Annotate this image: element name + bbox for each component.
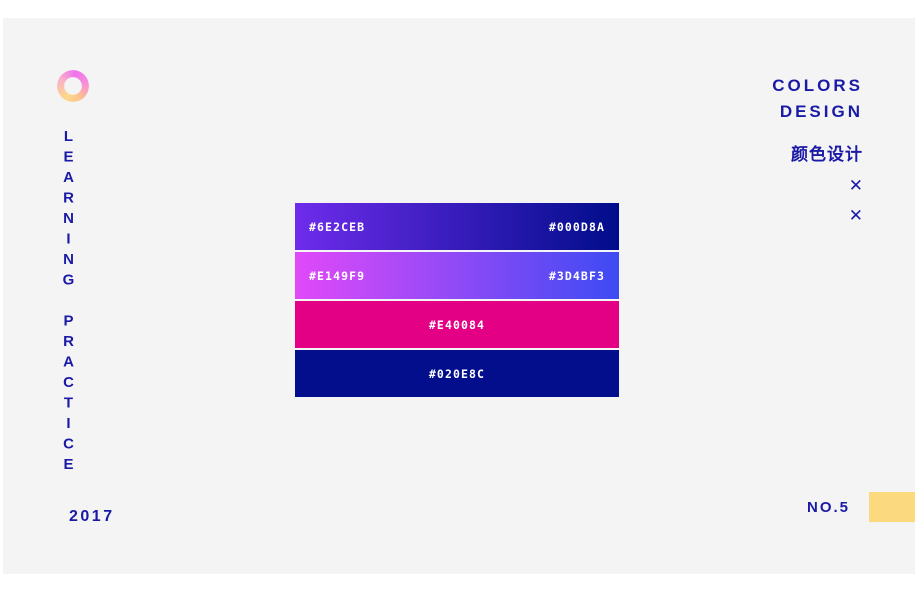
footer-right-group: NO.5 [807, 492, 915, 522]
color-swatch-row[interactable]: #E149F9 #3D4BF3 [295, 252, 619, 299]
swatch-label-center: #E40084 [429, 318, 485, 332]
swatch-label-right: #3D4BF3 [549, 269, 605, 283]
brand-column: LEARNING PRACTICE [55, 70, 115, 477]
footer-accent-block [869, 492, 915, 522]
gradient-ring-logo-icon [57, 70, 89, 102]
cross-mark-icon-1: ✕ [772, 178, 863, 195]
color-swatch-stack: #6E2CEB #000D8A #E149F9 #3D4BF3 #E40084 … [295, 203, 619, 399]
swatch-label-left: #6E2CEB [309, 220, 365, 234]
heading-line-design: DESIGN [772, 99, 863, 125]
footer-slide-number: NO.5 [807, 499, 850, 516]
swatch-label-left: #E149F9 [309, 269, 365, 283]
heading-block: COLORS DESIGN 颜色设计 ✕ ✕ [772, 73, 863, 225]
color-swatch-row[interactable]: #6E2CEB #000D8A [295, 203, 619, 250]
color-swatch-row[interactable]: #020E8C [295, 350, 619, 397]
heading-chinese-subtitle: 颜色设计 [772, 140, 863, 165]
footer-year: 2017 [69, 508, 115, 526]
color-swatch-row[interactable]: #E40084 [295, 301, 619, 348]
heading-line-colors: COLORS [772, 73, 863, 99]
swatch-label-center: #020E8C [429, 367, 485, 381]
vertical-title: LEARNING PRACTICE [61, 128, 76, 477]
cross-mark-icon-2: ✕ [772, 208, 863, 225]
slide-canvas: LEARNING PRACTICE COLORS DESIGN 颜色设计 ✕ ✕… [3, 18, 915, 574]
swatch-label-right: #000D8A [549, 220, 605, 234]
